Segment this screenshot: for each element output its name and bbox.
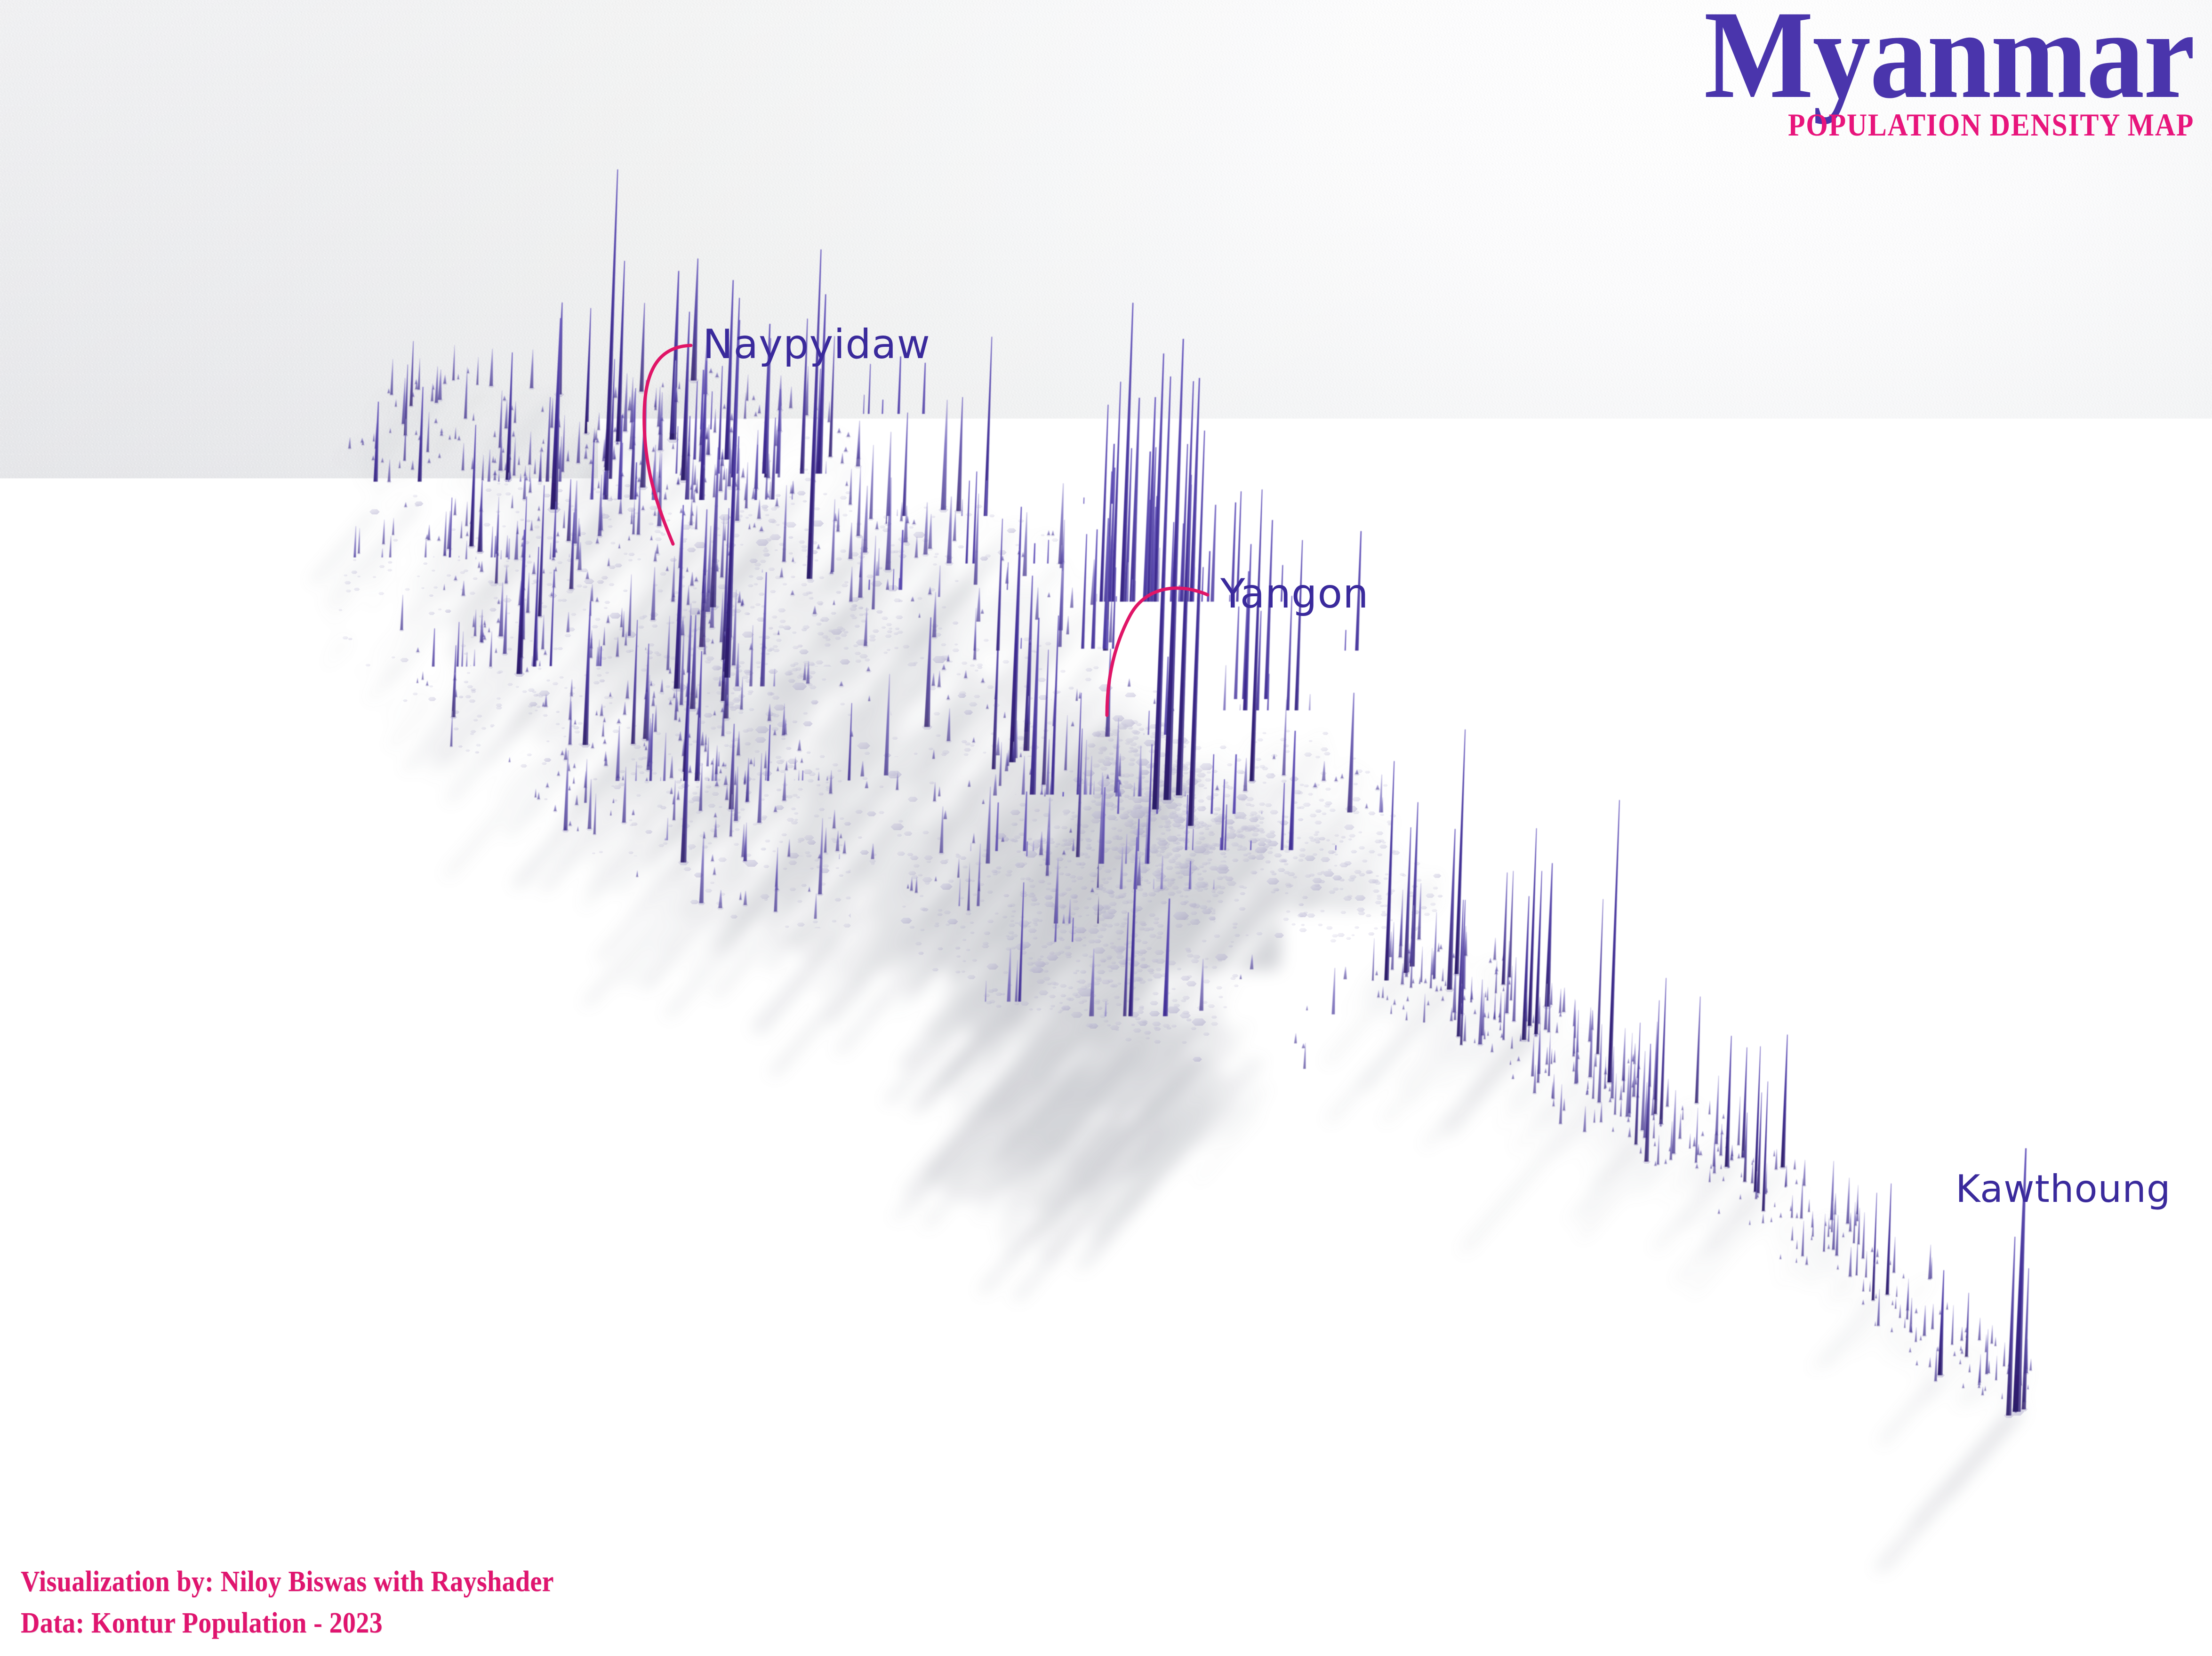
spike-columns <box>339 169 2032 1416</box>
spike-map <box>0 0 2212 1656</box>
population-density-poster: Naypyidaw Yangon Kawthoung Myanmar POPUL… <box>0 0 2212 1656</box>
poster-subtitle: POPULATION DENSITY MAP <box>1725 106 2194 144</box>
city-label-yangon: Yangon <box>1220 570 1369 617</box>
poster-header: Myanmar POPULATION DENSITY MAP <box>1661 0 2194 144</box>
data-source-line: Data: Kontur Population - 2023 <box>21 1602 554 1644</box>
spike-map-svg <box>0 0 2212 1656</box>
city-label-naypyidaw: Naypyidaw <box>703 321 930 368</box>
city-label-kawthoung: Kawthoung <box>1956 1167 2171 1211</box>
poster-footer: Visualization by: Niloy Biswas with Rays… <box>21 1561 613 1644</box>
credit-line: Visualization by: Niloy Biswas with Rays… <box>21 1561 554 1602</box>
poster-title: Myanmar <box>1704 0 2194 118</box>
